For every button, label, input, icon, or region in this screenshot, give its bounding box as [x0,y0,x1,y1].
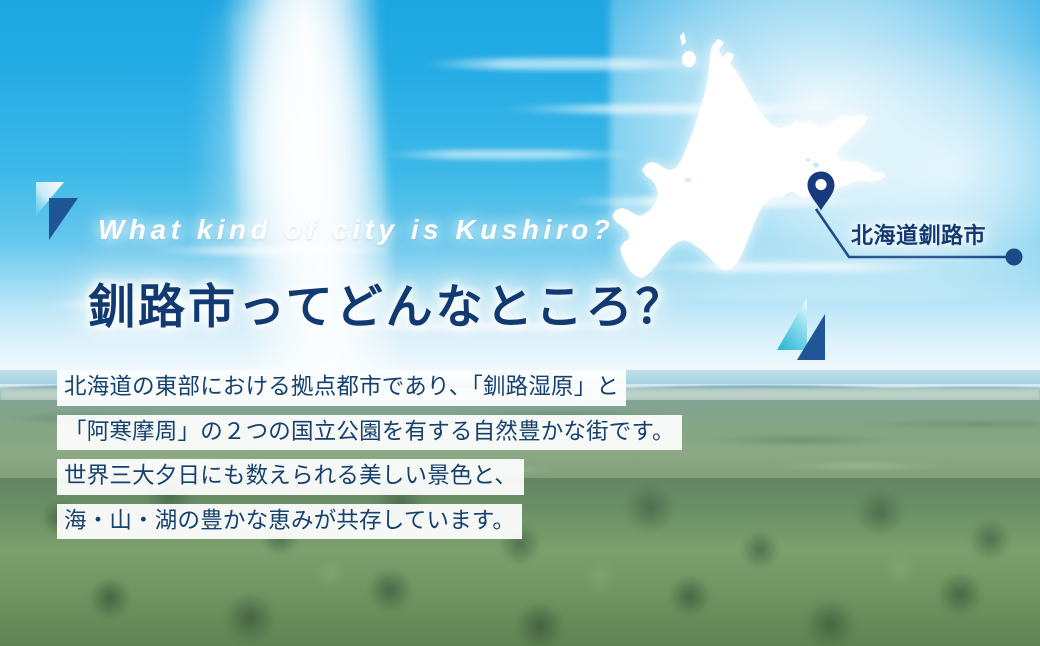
decoration-right [775,296,831,362]
hokkaido-map [600,28,900,298]
decoration-left [34,174,80,244]
body-line: 世界三大夕日にも数えられる美しい景色と、 [57,459,524,495]
page-title: 釧路市ってどんなところ？ [88,268,686,337]
body-line: 北海道の東部における拠点都市であり、「釧路湿原」と [57,370,626,406]
body-line: 「阿寒摩周」の２つの国立公園を有する自然豊かな街です。 [57,415,682,451]
body-copy: 北海道の東部における拠点都市であり、「釧路湿原」と 「阿寒摩周」の２つの国立公園… [57,370,757,548]
body-line: 海・山・湖の豊かな恵みが共存しています。 [57,504,522,540]
map-pin-icon [806,170,836,212]
map-location-label: 北海道釧路市 [851,218,986,250]
eyebrow-english-subtitle: What kind of city is Kushiro? [98,214,614,246]
hero-banner: What kind of city is Kushiro? 釧路市ってどんなとこ… [0,0,1040,646]
